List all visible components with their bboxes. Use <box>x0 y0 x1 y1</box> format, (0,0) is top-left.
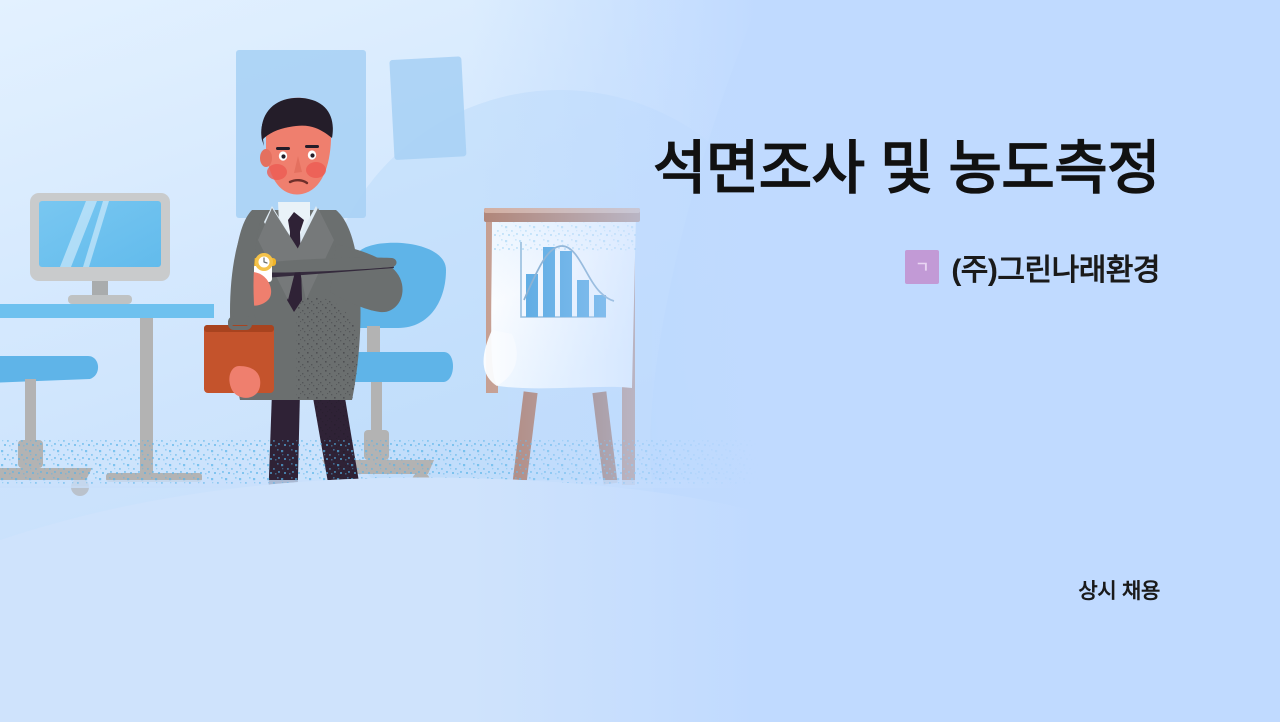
company-logo-glyph: ㄱ <box>905 250 939 284</box>
company-logo-badge: ㄱ <box>905 250 939 284</box>
right-edge-fade <box>0 0 760 722</box>
company-row: ㄱ (주)그린나래환경 <box>905 245 1160 289</box>
illustration-canvas <box>0 0 760 722</box>
status-badge: 상시 채용 <box>1078 575 1160 605</box>
job-posting-banner: 석면조사 및 농도측정 ㄱ (주)그린나래환경 상시 채용 <box>0 0 1280 722</box>
office-illustration <box>0 0 760 722</box>
company-name: (주)그린나래환경 <box>951 245 1160 289</box>
